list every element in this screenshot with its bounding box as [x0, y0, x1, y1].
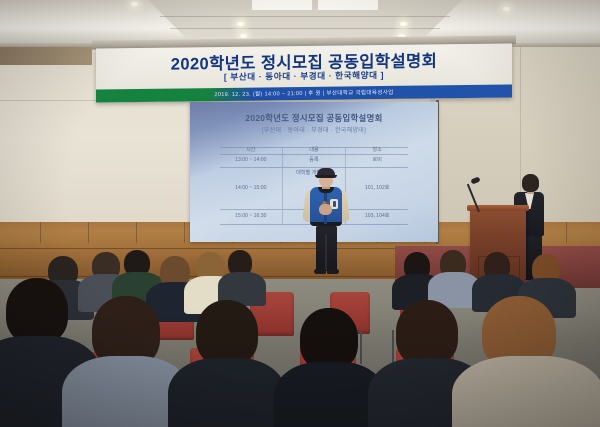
downlight-icon [400, 22, 407, 26]
wall-shadow-band [0, 47, 92, 65]
cell-place: 103, 104호 [346, 210, 408, 225]
slide-subtitle: [부산대 · 동아대 · 부경대 · 한국해양대] [190, 125, 438, 134]
downlight-icon [503, 7, 510, 11]
ceiling-light-panel [252, 0, 312, 10]
presenter-figure [304, 168, 348, 280]
photo-scene: 2020학년도 정시모집 공동입학설명회 [ 부산대 · 동아대 · 부경대 ·… [0, 0, 600, 427]
ceiling-seam [160, 16, 450, 17]
chair-leg [392, 330, 394, 364]
downlight-icon [131, 2, 138, 6]
banner-meta-line: 2019. 12. 23. (월) 14:00 ~ 21:00 | 후 원 | … [96, 86, 512, 99]
cell-time: 13:00 ~ 14:00 [220, 154, 282, 168]
podium-microphone-icon [470, 176, 480, 184]
attendee-head [300, 308, 358, 370]
table-header-row: 시간 내용 장소 [220, 148, 408, 155]
presenter-shoe-right [327, 269, 339, 274]
attendee-shoulders [452, 356, 600, 427]
chair-leg [360, 330, 362, 364]
downlight-icon [237, 22, 244, 26]
cell-time: 15:00 ~ 16:30 [220, 210, 282, 225]
col-header-place: 장소 [346, 148, 408, 155]
cell-time: 14:00 ~ 15:00 [220, 168, 282, 210]
staff-head [522, 174, 539, 192]
attendee-shoulders [168, 358, 286, 427]
col-header-time: 시간 [220, 148, 282, 155]
attendee-head [6, 278, 68, 344]
slide-title: 2020학년도 정시모집 공동입학설명회 [190, 112, 438, 124]
attendee-head [196, 300, 258, 366]
ceiling-seam [170, 28, 440, 29]
attendee-head [396, 300, 458, 366]
cell-content: 등록 [282, 154, 346, 168]
downlight-icon [240, 34, 247, 38]
presenter-cap-brim [315, 175, 337, 178]
cell-place: 101, 102호 [346, 168, 408, 210]
table-row: 13:00 ~ 14:00 등록 로비 [220, 154, 408, 168]
presenter-hands [319, 204, 332, 215]
cell-place: 로비 [346, 154, 408, 168]
event-banner: 2020학년도 정시모집 공동입학설명회 [ 부산대 · 동아대 · 부경대 ·… [96, 43, 512, 102]
presenter-shoe-left [314, 269, 326, 274]
col-header-content: 내용 [282, 148, 346, 155]
ceiling-light-panel [318, 0, 378, 10]
presenter-leg-gap [325, 234, 327, 270]
